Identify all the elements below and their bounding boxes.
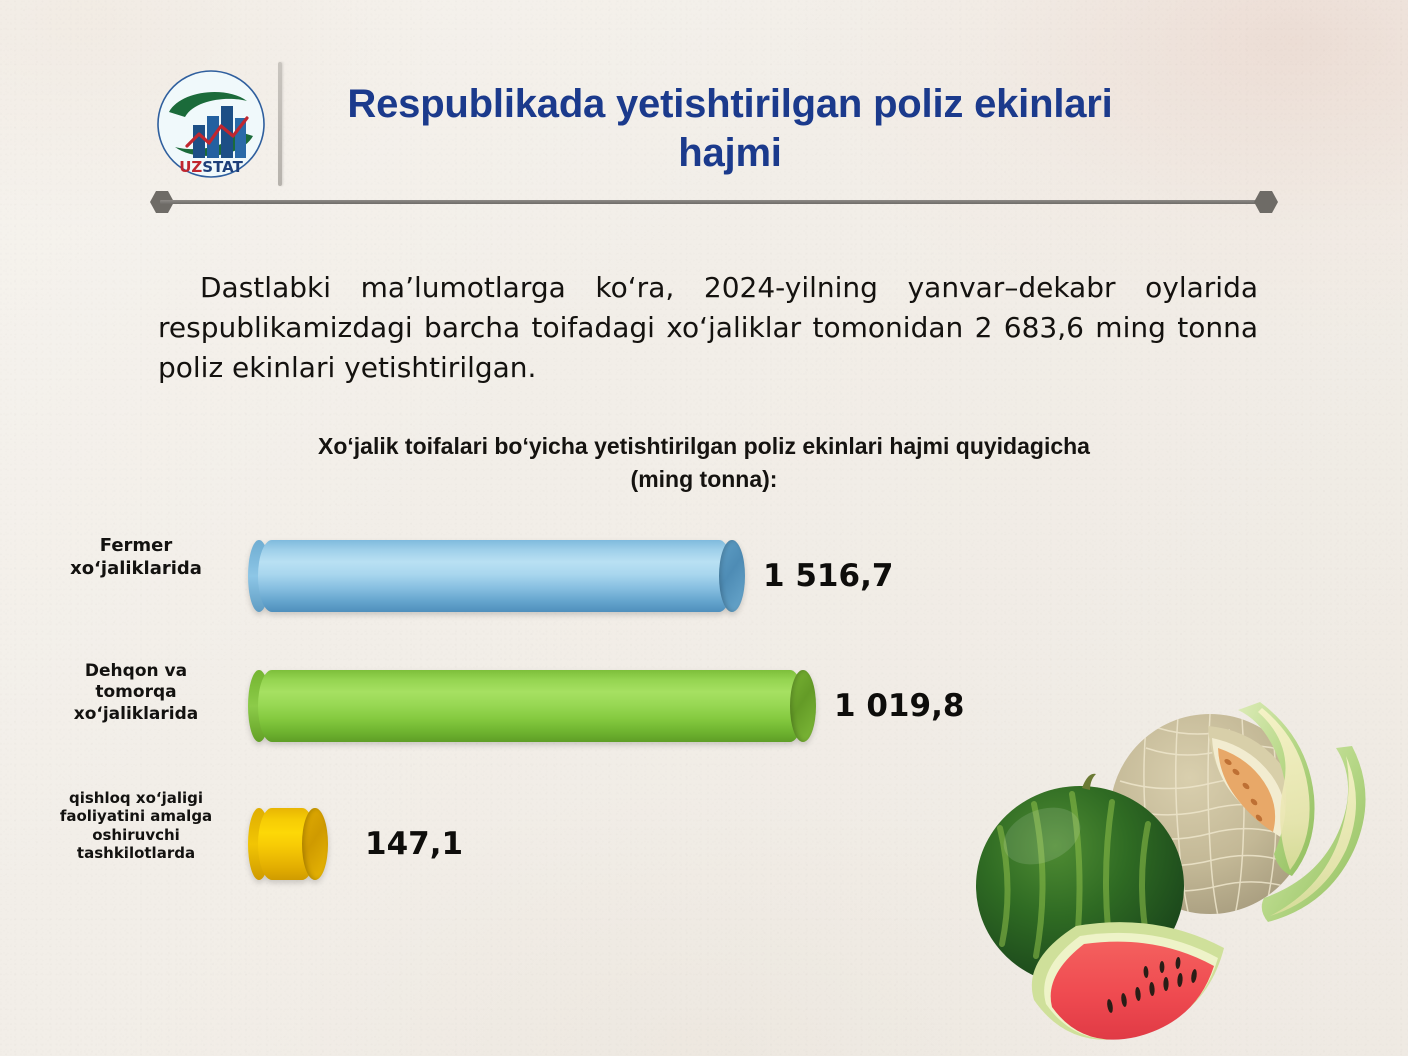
value-label-fermer: 1 516,7 [763, 558, 893, 594]
category-label-line-4: tashkilotlarda [77, 844, 195, 862]
bar-chart: Fermer xo‘jaliklarida 1 516,7 Dehqon va … [0, 520, 1000, 920]
chart-row: Fermer xo‘jaliklarida 1 516,7 [0, 520, 1000, 635]
category-label-line-1: qishloq xo‘jaligi [69, 789, 203, 807]
intro-paragraph: Dastlabki ma’lumotlarga ko‘ra, 2024-yiln… [158, 268, 1258, 387]
category-label-line-1: Fermer [100, 535, 173, 556]
category-label-line-2: faoliyatini amalga [60, 807, 212, 825]
category-label-line-3: oshiruvchi [92, 826, 180, 844]
bar-dehqon [258, 670, 804, 742]
svg-text:UZSTAT: UZSTAT [179, 158, 243, 176]
header: UZSTAT Respublikada yetishtirilgan poliz… [0, 0, 1408, 220]
category-label-dehqon: Dehqon va tomorqa xo‘jaliklarida [30, 661, 242, 725]
bar-body [258, 670, 804, 742]
watermelon-slice [1032, 922, 1224, 1040]
chart-row: Dehqon va tomorqa xo‘jaliklarida 1 019,8 [0, 655, 1000, 770]
uzstat-logo: UZSTAT [155, 68, 267, 180]
chart-title: Xo‘jalik toifalari bo‘yicha yetishtirilg… [204, 430, 1204, 495]
bar-right-cap [790, 670, 816, 742]
value-label-dehqon: 1 019,8 [834, 688, 964, 724]
divider-line [160, 200, 1268, 204]
melons-photo [960, 686, 1400, 1048]
category-label-line-1: Dehqon va [85, 661, 187, 681]
chart-title-line-1: Xo‘jalik toifalari bo‘yicha yetishtirilg… [318, 433, 1090, 459]
page-title: Respublikada yetishtirilgan poliz ekinla… [310, 80, 1150, 178]
category-label-line-2: xo‘jaliklarida [70, 558, 202, 579]
category-label-line-2: tomorqa [95, 682, 176, 702]
hexagon-right-icon [1254, 190, 1278, 214]
decorative-divider [150, 190, 1278, 214]
bar-right-cap [719, 540, 745, 612]
category-label-fermer: Fermer xo‘jaliklarida [30, 534, 242, 580]
bar-tashkilotlar [258, 808, 316, 880]
bar-fermer [258, 540, 733, 612]
chart-title-line-2: (ming tonna): [631, 466, 778, 492]
bar-right-cap [302, 808, 328, 880]
category-label-line-3: xo‘jaliklarida [74, 704, 199, 724]
value-label-tashkilotlar: 147,1 [365, 826, 463, 862]
chart-row: qishloq xo‘jaligi faoliyatini amalga osh… [0, 790, 1000, 905]
category-label-tashkilotlar: qishloq xo‘jaligi faoliyatini amalga osh… [30, 789, 242, 862]
bar-body [258, 540, 733, 612]
logo-divider [278, 62, 282, 186]
